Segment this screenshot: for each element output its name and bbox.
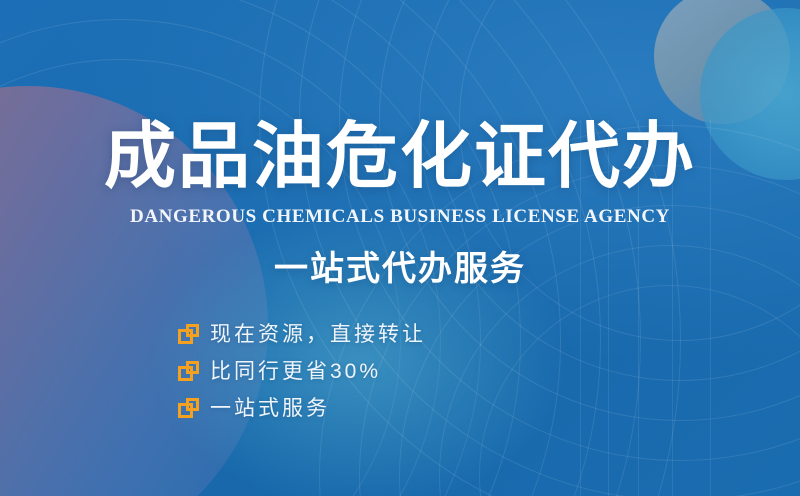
banner-content: 成品油危化证代办 DANGEROUS CHEMICALS BUSINESS LI…	[0, 0, 800, 496]
benefits-list: 现在资源，直接转让 比同行更省30% 一站式服务	[178, 316, 598, 427]
double-square-icon	[178, 398, 200, 420]
double-square-icon	[178, 324, 200, 346]
promo-banner: 成品油危化证代办 DANGEROUS CHEMICALS BUSINESS LI…	[0, 0, 800, 496]
list-item-label: 比同行更省30%	[210, 359, 381, 385]
banner-english-subtitle: DANGEROUS CHEMICALS BUSINESS LICENSE AGE…	[0, 205, 800, 229]
list-item-label: 一站式服务	[210, 396, 330, 422]
banner-main-title: 成品油危化证代办	[0, 118, 800, 196]
list-item: 现在资源，直接转让	[178, 316, 598, 353]
list-item: 一站式服务	[178, 390, 598, 427]
banner-secondary-title: 一站式代办服务	[0, 248, 800, 290]
double-square-icon	[178, 361, 200, 383]
list-item-label: 现在资源，直接转让	[210, 322, 426, 348]
list-item: 比同行更省30%	[178, 353, 598, 390]
